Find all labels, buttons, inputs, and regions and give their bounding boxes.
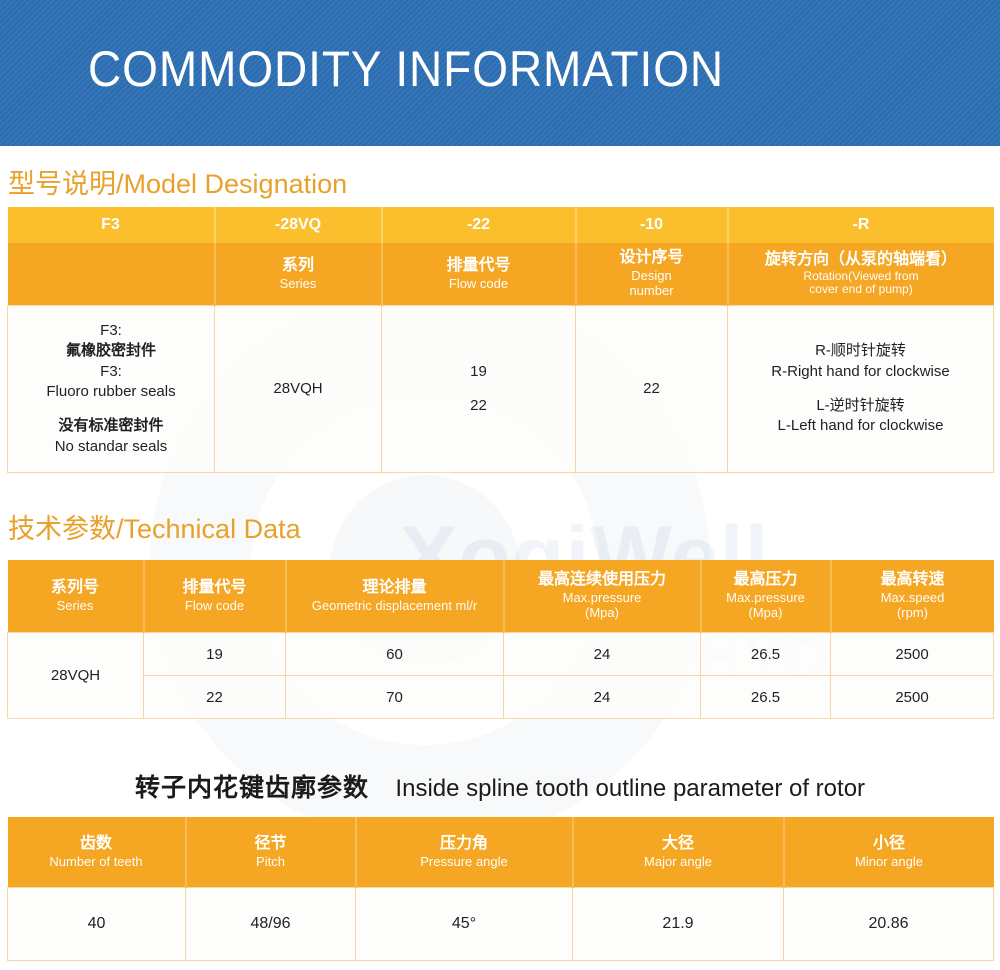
model-designation-heading: 型号说明/Model Designation: [8, 162, 347, 201]
tech-col-3: 最高连续使用压力 Max.pressure (Mpa): [504, 560, 701, 633]
model-col-code-4: -R: [728, 207, 994, 243]
tech-col-0-cn: 系列号: [8, 579, 143, 598]
tech-col-2: 理论排量 Geometric displacement ml/r: [286, 560, 504, 633]
model-col-code-2: -22: [382, 207, 576, 243]
tech-r1-max-speed: 2500: [831, 676, 994, 719]
tech-r1-flow-code: 22: [144, 676, 286, 719]
tech-col-3-cn: 最高连续使用压力: [505, 571, 700, 590]
rotation-r-en: R-Right hand for clockwise: [728, 362, 993, 382]
tech-col-1: 排量代号 Flow code: [144, 560, 286, 633]
model-col-label-4-en: Rotation(Viewed from cover end of pump): [729, 270, 994, 298]
page-title: COMMODITY INFORMATION: [88, 40, 724, 98]
tech-col-0-en: Series: [8, 598, 143, 613]
seal-f3-cn: 氟橡胶密封件: [8, 341, 214, 361]
tech-col-1-cn: 排量代号: [145, 579, 285, 598]
model-col-label-3: 设计序号 Design number: [576, 243, 728, 306]
model-col-label-2-en: Flow code: [383, 276, 575, 291]
table-row: 28VQH 19 60 24 26.5 2500: [8, 633, 994, 676]
model-cell-design-number: 22: [576, 306, 728, 473]
seal-spacer: [8, 402, 214, 416]
tech-r0-displacement: 60: [286, 633, 504, 676]
table-row-body: F3: 氟橡胶密封件 F3: Fluoro rubber seals 没有标准密…: [8, 306, 994, 473]
model-cell-flow-codes: 19 22: [382, 306, 576, 473]
tech-col-4-en: Max.pressure (Mpa): [702, 590, 830, 620]
tech-col-0: 系列号 Series: [8, 560, 144, 633]
tech-col-4-cn: 最高压力: [702, 571, 830, 590]
table-row-header: 系列号 Series 排量代号 Flow code 理论排量 Geometric…: [8, 560, 994, 633]
tech-r0-max-cont-pressure: 24: [504, 633, 701, 676]
spline-cell-number-of-teeth: 40: [8, 888, 186, 961]
tech-cell-series: 28VQH: [8, 633, 144, 719]
table-row: 40 48/96 45° 21.9 20.86: [8, 888, 994, 961]
spline-col-2: 压力角 Pressure angle: [356, 817, 573, 888]
model-col-label-3-cn: 设计序号: [577, 249, 727, 268]
tech-col-4: 最高压力 Max.pressure (Mpa): [701, 560, 831, 633]
model-col-label-4-cn: 旋转方向（从泵的轴端看）: [729, 251, 994, 270]
spline-col-2-en: Pressure angle: [357, 854, 572, 869]
spline-section-title: 转子内花键齿廓参数 Inside spline tooth outline pa…: [0, 768, 1000, 804]
model-col-label-1: 系列 Series: [215, 243, 382, 306]
model-col-label-1-en: Series: [216, 276, 381, 291]
technical-data-heading: 技术参数/Technical Data: [8, 507, 301, 546]
technical-data-table: 系列号 Series 排量代号 Flow code 理论排量 Geometric…: [7, 560, 994, 719]
seal-f3-label: F3:: [8, 321, 214, 341]
model-col-code-3: -10: [576, 207, 728, 243]
rotation-r-cn: R-顺时针旋转: [728, 341, 993, 361]
spline-col-1-cn: 径节: [187, 835, 355, 854]
seal-f3-label-2: F3:: [8, 362, 214, 382]
table-row-code: F3 -28VQ -22 -10 -R: [8, 207, 994, 243]
tech-r1-max-pressure: 26.5: [701, 676, 831, 719]
spline-col-2-cn: 压力角: [357, 835, 572, 854]
model-col-code-0: F3: [8, 207, 215, 243]
flow-code-22: 22: [382, 396, 575, 416]
spline-parameter-table: 齿数 Number of teeth 径节 Pitch 压力角 Pressure…: [7, 817, 994, 961]
model-cell-seal-options: F3: 氟橡胶密封件 F3: Fluoro rubber seals 没有标准密…: [8, 306, 215, 473]
tech-r0-flow-code: 19: [144, 633, 286, 676]
spline-title-en: Inside spline tooth outline parameter of…: [395, 775, 865, 802]
model-col-label-2-cn: 排量代号: [383, 257, 575, 276]
spline-col-3-en: Major angle: [574, 854, 783, 869]
spline-col-3-cn: 大径: [574, 835, 783, 854]
tech-r1-displacement: 70: [286, 676, 504, 719]
tech-r0-max-speed: 2500: [831, 633, 994, 676]
model-cell-series: 28VQH: [215, 306, 382, 473]
seal-f3-en: Fluoro rubber seals: [8, 382, 214, 402]
tech-col-5-en: Max.speed (rpm): [832, 590, 994, 620]
spline-col-0-en: Number of teeth: [8, 854, 185, 869]
model-col-label-4: 旋转方向（从泵的轴端看） Rotation(Viewed from cover …: [728, 243, 994, 306]
tech-r1-max-cont-pressure: 24: [504, 676, 701, 719]
model-cell-rotation: R-顺时针旋转 R-Right hand for clockwise L-逆时针…: [728, 306, 994, 473]
table-row-header: 齿数 Number of teeth 径节 Pitch 压力角 Pressure…: [8, 817, 994, 888]
tech-col-5-cn: 最高转速: [832, 571, 994, 590]
page-banner: COMMODITY INFORMATION: [0, 0, 1000, 146]
spline-col-4-cn: 小径: [785, 835, 994, 854]
rotation-spacer: [728, 382, 993, 396]
table-row-label: 系列 Series 排量代号 Flow code 设计序号 Design num…: [8, 243, 994, 306]
model-designation-table: F3 -28VQ -22 -10 -R 系列 Series 排量代号 Flow …: [7, 207, 994, 473]
spline-title-cn: 转子内花键齿廓参数: [135, 774, 369, 802]
tech-r0-max-pressure: 26.5: [701, 633, 831, 676]
rotation-l-cn: L-逆时针旋转: [728, 396, 993, 416]
tech-col-3-en: Max.pressure (Mpa): [505, 590, 700, 620]
spline-col-3: 大径 Major angle: [573, 817, 784, 888]
model-col-code-1: -28VQ: [215, 207, 382, 243]
spline-cell-pressure-angle: 45°: [356, 888, 573, 961]
seal-none-cn: 没有标准密封件: [8, 416, 214, 436]
model-col-label-1-cn: 系列: [216, 257, 381, 276]
model-col-label-2: 排量代号 Flow code: [382, 243, 576, 306]
spline-cell-minor-angle: 20.86: [784, 888, 994, 961]
spline-col-0: 齿数 Number of teeth: [8, 817, 186, 888]
spline-col-0-cn: 齿数: [8, 835, 185, 854]
spline-col-1: 径节 Pitch: [186, 817, 356, 888]
model-col-label-0: [8, 243, 215, 306]
spline-col-1-en: Pitch: [187, 854, 355, 869]
spline-col-4: 小径 Minor angle: [784, 817, 994, 888]
rotation-l-en: L-Left hand for clockwise: [728, 416, 993, 436]
flow-code-19: 19: [382, 362, 575, 382]
tech-col-1-en: Flow code: [145, 598, 285, 613]
spline-cell-major-angle: 21.9: [573, 888, 784, 961]
spline-col-4-en: Minor angle: [785, 854, 994, 869]
spline-cell-pitch: 48/96: [186, 888, 356, 961]
seal-none-en: No standar seals: [8, 437, 214, 457]
tech-col-2-cn: 理论排量: [287, 579, 503, 598]
model-col-label-3-en: Design number: [577, 268, 727, 298]
tech-col-2-en: Geometric displacement ml/r: [287, 598, 503, 613]
table-row: 22 70 24 26.5 2500: [8, 676, 994, 719]
flow-code-spacer: [382, 382, 575, 396]
tech-col-5: 最高转速 Max.speed (rpm): [831, 560, 994, 633]
